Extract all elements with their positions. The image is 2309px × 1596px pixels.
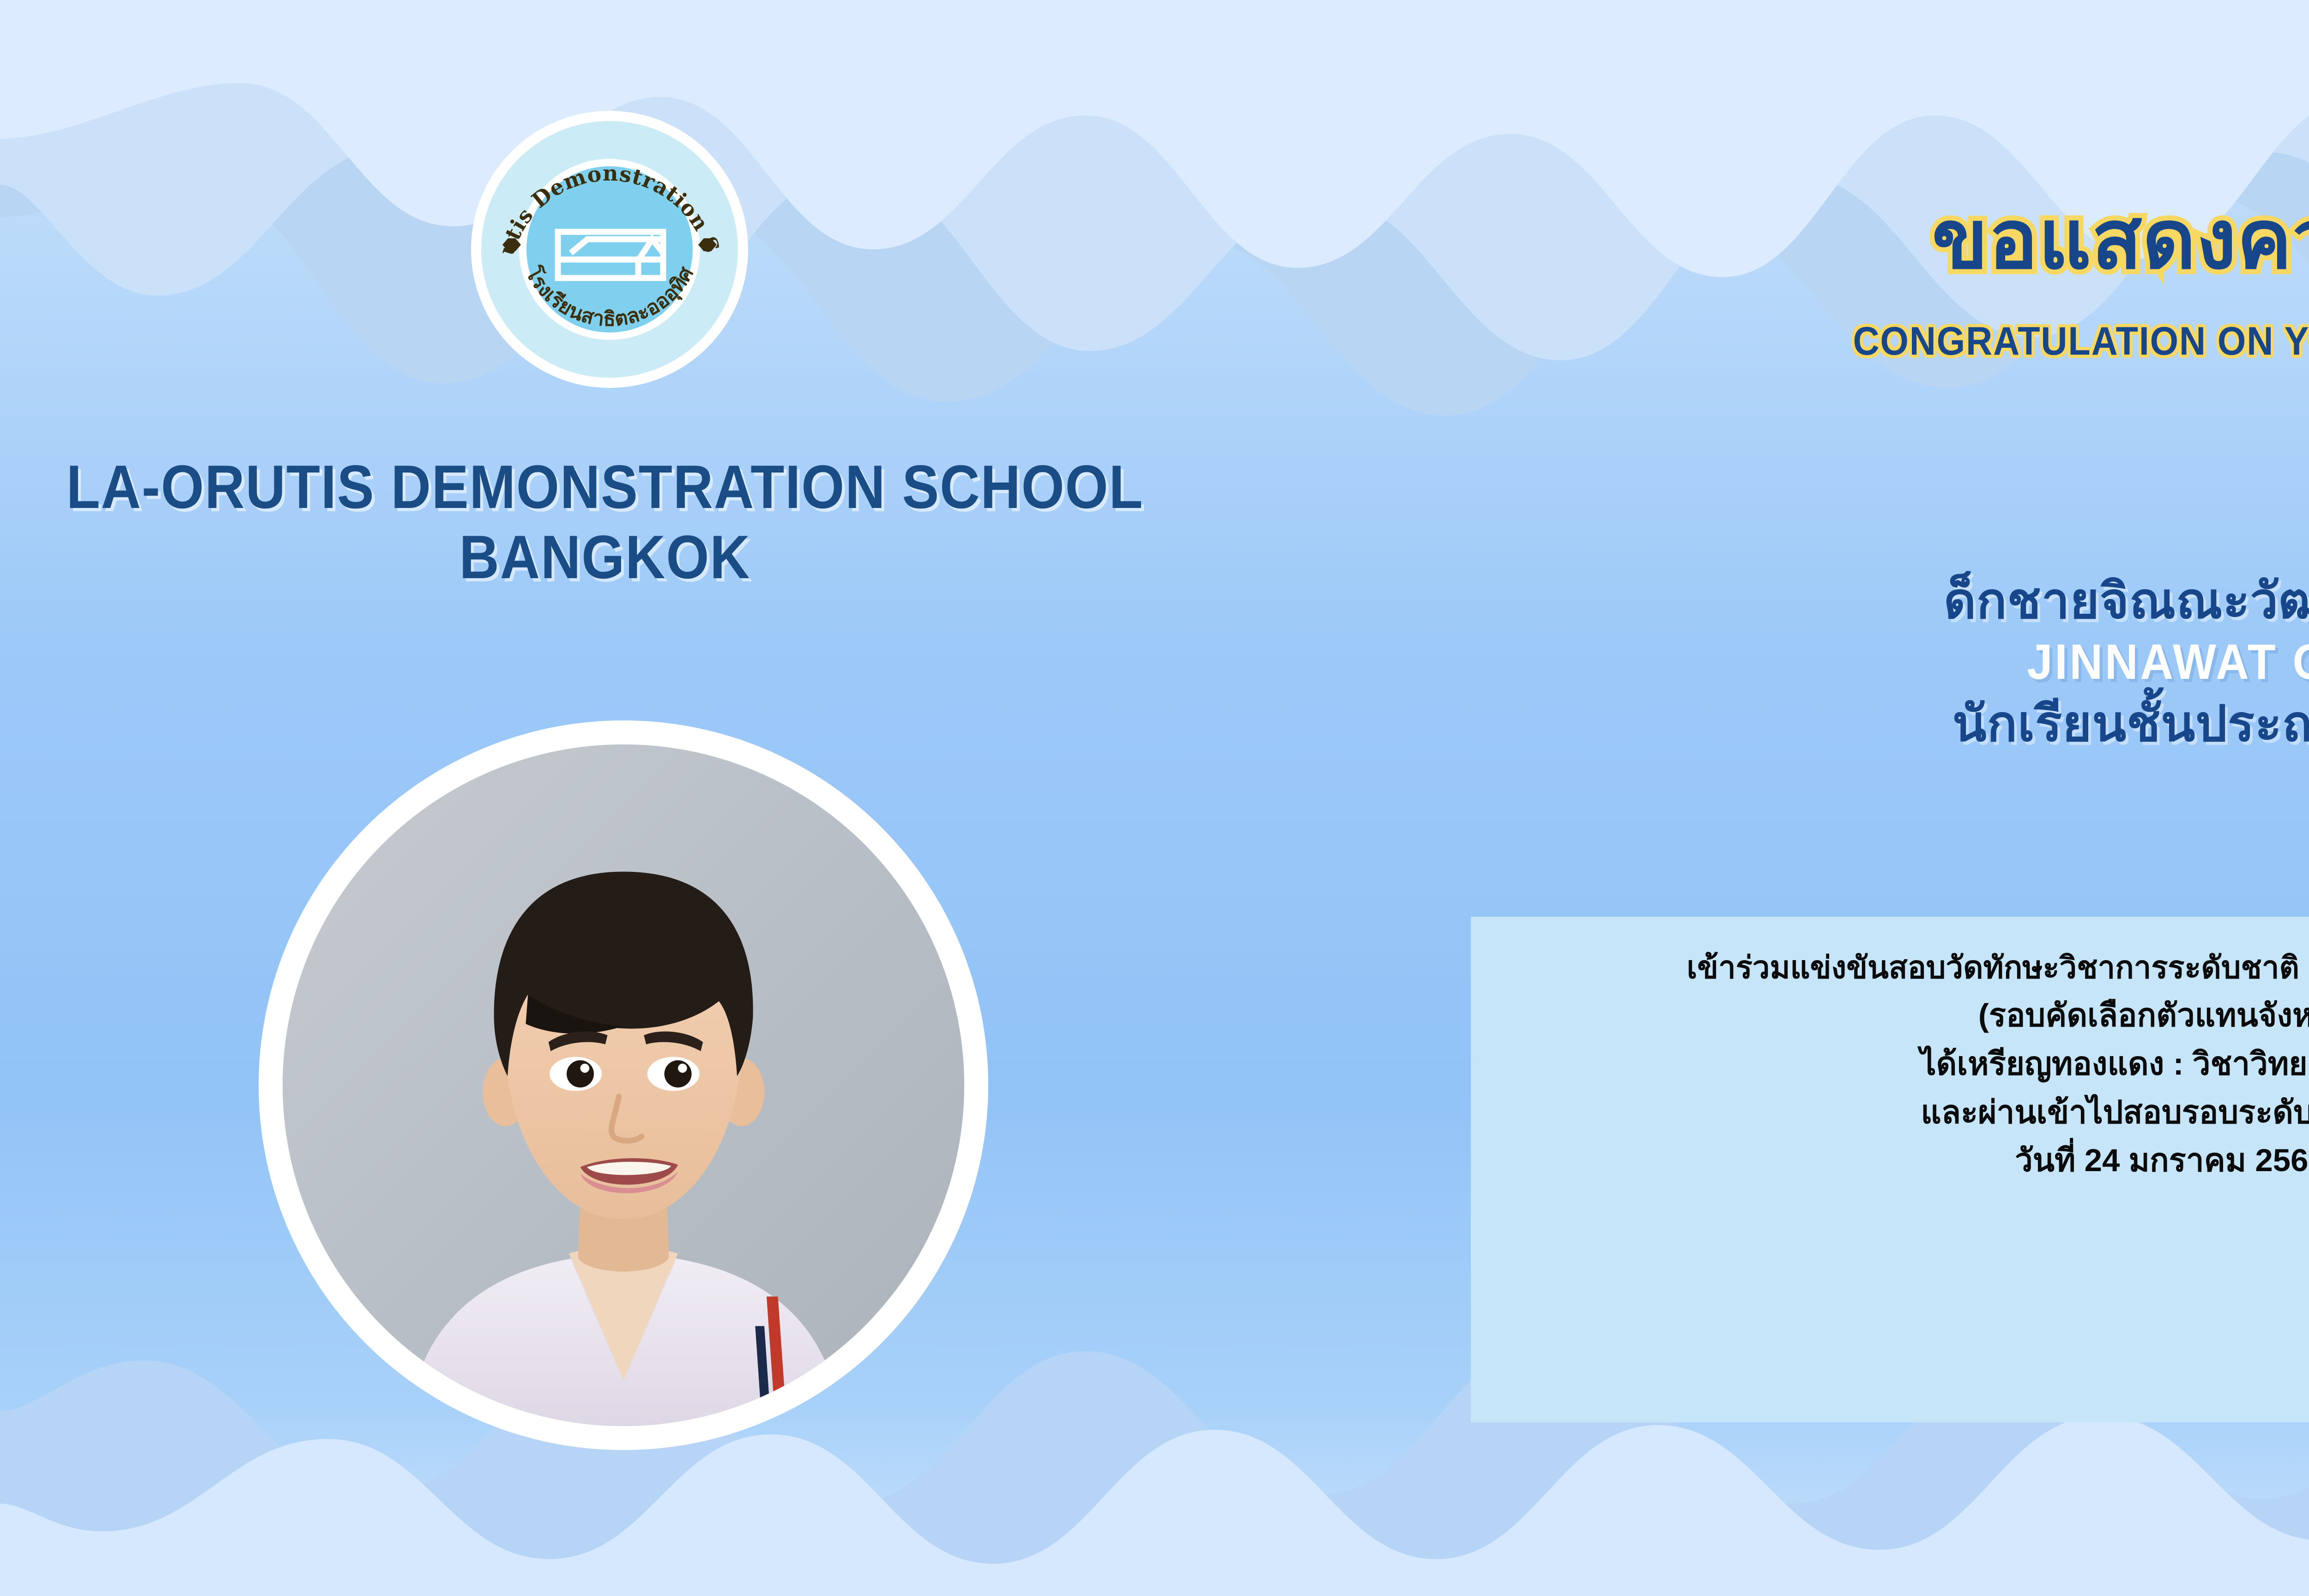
achievement-line-2: (รอบคัดเลือกตัวแทนจังหวัด): [1493, 991, 2309, 1040]
achievement-line-3: ได้เหรียญทองแดง : วิชาวิทยาศาสตร์: [1493, 1040, 2309, 1088]
school-seal-svg: La-orutis Demonstration School โรงเรียนส…: [466, 106, 753, 393]
student-portrait-illustration: [283, 744, 964, 1426]
school-name-line1: LA-ORUTIS DEMONSTRATION SCHOOL: [60, 453, 1149, 523]
achievement-line-5: วันที่ 24 มกราคม 2569: [1493, 1137, 2309, 1185]
achievement-card: เข้าร่วมแข่งขันสอบวัดทักษะวิชาการระดับชา…: [1471, 917, 2309, 1422]
student-photo-frame: [259, 720, 988, 1450]
left-panel: La-orutis Demonstration School โรงเรียนส…: [0, 0, 1339, 1596]
achievement-line-1: เข้าร่วมแข่งขันสอบวัดทักษะวิชาการระดับชา…: [1493, 944, 2309, 991]
school-name-line2: BANGKOK: [60, 523, 1149, 593]
student-name-thai: ด็กชายจิณณะวัฒน์ อ่อนละออ: [1339, 570, 2309, 631]
achievement-line-4: และผ่านเข้าไปสอบรอบระดับประเทศ: [1493, 1088, 2309, 1137]
school-name-block: LA-ORUTIS DEMONSTRATION SCHOOL BANGKOK: [60, 453, 1149, 592]
headline-thai: ขอแสดงความยินดี: [1339, 199, 2309, 281]
headline-english: CONGRATULATION ON YOUR ACHIEVEMENT: [1413, 319, 2309, 364]
student-name-english: JINNAWAT ONLAOR: [1413, 631, 2309, 692]
student-grade: นักเรียนชั้นประถมศึกษาปีที่ 3: [1339, 692, 2309, 755]
school-seal-logo: La-orutis Demonstration School โรงเรียนส…: [466, 106, 753, 393]
student-name-block: ด็กชายจิณณะวัฒน์ อ่อนละออ JINNAWAT ONLAO…: [1339, 570, 2309, 755]
right-panel: ขอแสดงความยินดี CONGRATULATION ON YOUR A…: [1339, 0, 2309, 1596]
student-photo: [283, 744, 964, 1426]
congratulation-banner: La-orutis Demonstration School โรงเรียนส…: [0, 0, 2309, 1596]
